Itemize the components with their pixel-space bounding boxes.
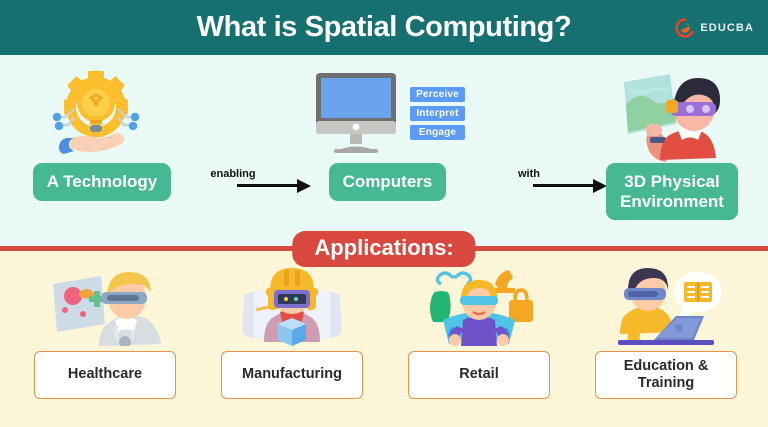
educba-e-logo-icon [675,18,695,38]
brand-logo: EDUCBA [675,18,754,38]
flow-node-technology-label: A Technology [33,163,172,201]
badge-perceive: Perceive [410,87,465,102]
flow-node-environment: 3D Physical Environment [592,63,752,220]
desktop-monitor-icon [310,69,406,157]
monitor-wrap: Perceive Interpret Engage [310,69,465,157]
application-card-education: Education & Training [592,261,740,399]
person-vr-headset-map-icon [606,63,738,163]
application-card-retail: Retail [405,261,553,399]
application-card-retail-label: Retail [408,351,550,399]
hand-holding-lightbulb-gear-icon [44,63,160,163]
arrow-enabling: enabling [190,168,276,181]
application-card-healthcare-label: Healthcare [34,351,176,399]
computer-capability-badges: Perceive Interpret Engage [410,87,465,140]
applications-section: Healthcare [0,251,768,427]
application-card-healthcare: Healthcare [31,261,179,399]
applications-banner: Applications: [292,231,475,267]
flow-node-technology: A Technology [22,63,182,201]
page-title: What is Spatial Computing? [197,11,572,44]
arrow-with-label: with [486,168,572,180]
flow-node-environment-label: 3D Physical Environment [606,163,738,220]
application-card-manufacturing: Manufacturing [218,261,366,399]
definition-section: A Technology enabling [0,55,768,248]
flow-row: A Technology enabling [0,55,768,248]
flow-node-computers: Perceive Interpret Engage Computers [300,63,475,201]
doctor-vr-medical-screen-icon [31,261,179,347]
badge-engage: Engage [410,125,465,140]
arrow-enabling-label: enabling [190,168,276,180]
worker-hardhat-vr-cube-icon [218,261,366,347]
badge-interpret: Interpret [410,106,465,121]
flow-node-computers-label: Computers [329,163,447,201]
infographic-canvas: What is Spatial Computing? EDUCBA [0,0,768,427]
student-vr-laptop-book-icon [592,261,740,347]
shopper-vr-products-icon [405,261,553,347]
application-card-education-label: Education & Training [595,351,737,399]
computer-illustration: Perceive Interpret Engage [310,63,465,163]
application-card-manufacturing-label: Manufacturing [221,351,363,399]
header-bar: What is Spatial Computing? EDUCBA [0,0,768,55]
brand-logo-text: EDUCBA [700,22,754,34]
arrow-with: with [486,168,572,181]
